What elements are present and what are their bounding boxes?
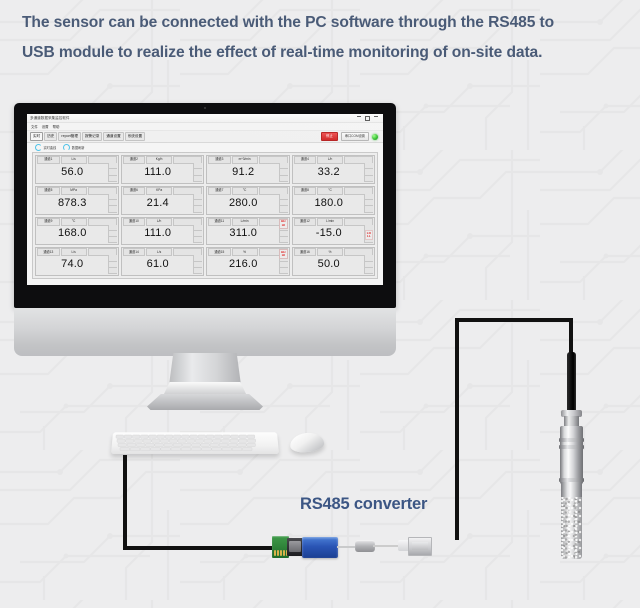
ferrite-bead bbox=[355, 540, 375, 552]
channel-body: 311.0 bbox=[208, 225, 288, 244]
refresh-icon bbox=[63, 144, 70, 151]
channel-body: 878.3 bbox=[37, 194, 117, 213]
channel-value: 180.0 bbox=[294, 198, 365, 209]
channel-value: 878.3 bbox=[37, 198, 108, 209]
alarm-badge-bottom: LL bbox=[367, 235, 371, 239]
channel-body: -15.0 bbox=[294, 225, 374, 244]
channel-side-strip bbox=[193, 194, 202, 213]
channel-value: 111.0 bbox=[123, 167, 194, 178]
channel-body: 111.0 bbox=[123, 225, 203, 244]
monitor-neck bbox=[169, 353, 241, 385]
monitor-base bbox=[147, 394, 263, 410]
tab-system-settings[interactable]: 系统设置 bbox=[125, 132, 145, 141]
channel-side-strip bbox=[193, 163, 202, 182]
channel-cell[interactable]: 通道5MPa878.3 bbox=[35, 186, 119, 215]
channel-cell[interactable]: 通道7°C280.0 bbox=[206, 186, 290, 215]
monitor-neck-lower bbox=[163, 382, 247, 396]
channel-body: 280.0 bbox=[208, 194, 288, 213]
channel-value: 216.0 bbox=[208, 259, 279, 270]
channel-body: 33.2 bbox=[294, 163, 374, 182]
channel-value: 74.0 bbox=[37, 259, 108, 270]
channel-cell[interactable]: 通道10L/h111.0 bbox=[121, 217, 205, 246]
channel-body: 61.0 bbox=[123, 255, 203, 274]
tab-bar[interactable]: 实时 历史 report管理 报警记录 通道设置 系统设置 停止 串口COM设置 bbox=[27, 131, 383, 143]
channel-cell[interactable]: 通道13L/s74.0 bbox=[35, 247, 119, 276]
option-label-data-refresh: 数据刷新 bbox=[72, 145, 85, 150]
keyboard[interactable] bbox=[112, 432, 278, 454]
channel-body: 216.0 bbox=[208, 255, 288, 274]
sensor-ring-2 bbox=[559, 445, 584, 449]
keyboard-keys bbox=[112, 432, 278, 454]
monitoring-software-window: 多通道数据采集监控软件 文件 设置 帮助 实时 历史 report管理 报警记录 bbox=[27, 114, 383, 285]
sensor-cable bbox=[567, 352, 576, 414]
channel-body: 91.2 bbox=[208, 163, 288, 182]
channel-value: 168.0 bbox=[37, 228, 108, 239]
window-title: 多通道数据采集监控软件 bbox=[30, 116, 70, 121]
channel-side-strip bbox=[108, 194, 117, 213]
window-controls[interactable] bbox=[357, 116, 380, 121]
channel-value: 50.0 bbox=[294, 259, 365, 270]
channel-side-strip bbox=[364, 194, 373, 213]
caption-line-2: USB module to realize the effect of real… bbox=[22, 38, 622, 68]
caption-line-1: The sensor can be connected with the PC … bbox=[22, 8, 622, 38]
channel-cell[interactable]: 通道8°C180.0 bbox=[292, 186, 376, 215]
alarm-badge-bottom: HI bbox=[282, 254, 285, 258]
channel-body: 50.0 bbox=[294, 255, 374, 274]
channel-cell[interactable]: 通道1L/s56.0 bbox=[35, 155, 119, 184]
cable-sensor-vertical bbox=[569, 318, 573, 356]
converter-label: RS485 converter bbox=[300, 495, 427, 514]
option-realtime-curve[interactable]: 实时曲线 bbox=[35, 144, 56, 151]
alarm-badge-bottom: HI bbox=[282, 224, 285, 228]
cable-pc-vertical bbox=[123, 455, 127, 550]
caption-text: The sensor can be connected with the PC … bbox=[22, 8, 622, 68]
cable-pc-horizontal bbox=[123, 546, 275, 550]
monitor-chin bbox=[14, 308, 396, 356]
alarm-badge: LOLL bbox=[365, 230, 373, 240]
mouse[interactable] bbox=[289, 431, 325, 453]
channel-side-strip bbox=[364, 255, 373, 274]
channel-value: 311.0 bbox=[208, 228, 279, 239]
minimize-icon[interactable] bbox=[357, 116, 361, 117]
usb-plug-shell bbox=[408, 537, 432, 556]
menu-item-file[interactable]: 文件 bbox=[31, 124, 38, 129]
channel-side-strip bbox=[279, 163, 288, 182]
channel-body: 21.4 bbox=[123, 194, 203, 213]
tab-channel-settings[interactable]: 通道设置 bbox=[103, 132, 123, 141]
channel-body: 111.0 bbox=[123, 163, 203, 182]
channel-value: 91.2 bbox=[208, 167, 279, 178]
channel-value: 61.0 bbox=[123, 259, 194, 270]
tab-history[interactable]: 历史 bbox=[44, 132, 57, 141]
channel-side-strip bbox=[108, 255, 117, 274]
toolbar-actions: 停止 串口COM设置 bbox=[321, 132, 380, 140]
channel-body: 56.0 bbox=[37, 163, 117, 182]
tab-report-manage[interactable]: report管理 bbox=[58, 132, 81, 141]
channel-cell[interactable]: 通道16%50.0 bbox=[292, 247, 376, 276]
menu-item-help[interactable]: 帮助 bbox=[53, 124, 60, 129]
sensor-sintered-filter-cap bbox=[561, 497, 582, 559]
window-title-bar: 多通道数据采集监控软件 bbox=[27, 114, 383, 123]
channel-side-strip bbox=[364, 163, 373, 182]
usb-wire bbox=[373, 545, 401, 547]
channel-value: 21.4 bbox=[123, 198, 194, 209]
sensor-midsection bbox=[561, 482, 582, 498]
tab-realtime[interactable]: 实时 bbox=[30, 132, 43, 141]
channel-cell[interactable]: 通道11L/min311.0HHHI bbox=[206, 217, 290, 246]
channel-cell[interactable]: 通道14L/s61.0 bbox=[121, 247, 205, 276]
rs485-to-usb-converter bbox=[272, 531, 364, 561]
tab-alarm-records[interactable]: 报警记录 bbox=[82, 132, 102, 141]
converter-body bbox=[302, 537, 338, 558]
usb-a-plug bbox=[398, 537, 430, 554]
stop-button[interactable]: 停止 bbox=[321, 132, 338, 140]
option-label-realtime-curve: 实时曲线 bbox=[44, 145, 57, 150]
channel-side-strip bbox=[108, 163, 117, 182]
channel-side-strip bbox=[193, 225, 202, 244]
channel-side-strip bbox=[193, 255, 202, 274]
alarm-badge: HHHI bbox=[279, 219, 287, 229]
channel-cell[interactable]: 通道3m^3/min91.2 bbox=[206, 155, 290, 184]
channel-value: 33.2 bbox=[294, 167, 365, 178]
channel-body: 74.0 bbox=[37, 255, 117, 274]
channel-cell[interactable]: 通道9°C168.0 bbox=[35, 217, 119, 246]
cable-usb-vertical bbox=[455, 318, 459, 540]
channel-side-strip bbox=[108, 225, 117, 244]
maximize-icon[interactable] bbox=[365, 116, 370, 121]
channel-value: -15.0 bbox=[294, 228, 365, 239]
option-row: 实时曲线 数据刷新 bbox=[27, 143, 383, 152]
channel-grid-panel: 通道1L/s56.0通道2Kg/h111.0通道3m^3/min91.2通道4L… bbox=[32, 152, 378, 279]
db9-connector bbox=[287, 538, 303, 556]
channel-value: 280.0 bbox=[208, 198, 279, 209]
menu-item-settings[interactable]: 设置 bbox=[42, 124, 49, 129]
spinner-icon bbox=[35, 144, 42, 151]
sensor-ring-3 bbox=[559, 478, 584, 482]
channel-cell[interactable]: 通道12L/min-15.0LOLL bbox=[292, 217, 376, 246]
menu-bar[interactable]: 文件 设置 帮助 bbox=[27, 123, 383, 131]
channel-cell[interactable]: 通道6KPa21.4 bbox=[121, 186, 205, 215]
monitor-screen: 多通道数据采集监控软件 文件 设置 帮助 实时 历史 report管理 报警记录 bbox=[27, 114, 383, 285]
channel-body: 168.0 bbox=[37, 225, 117, 244]
sensor-body bbox=[560, 426, 583, 484]
channel-side-strip bbox=[279, 194, 288, 213]
channel-cell[interactable]: 通道15%216.0HHHI bbox=[206, 247, 290, 276]
status-led-icon bbox=[372, 134, 378, 140]
converter-wire bbox=[337, 546, 357, 548]
channel-cell[interactable]: 通道4L/h33.2 bbox=[292, 155, 376, 184]
sensor-ring-1 bbox=[559, 438, 584, 442]
option-data-refresh[interactable]: 数据刷新 bbox=[63, 144, 84, 151]
desktop-monitor: 多通道数据采集监控软件 文件 设置 帮助 实时 历史 report管理 报警记录 bbox=[14, 103, 396, 308]
channel-cell[interactable]: 通道2Kg/h111.0 bbox=[121, 155, 205, 184]
temperature-humidity-sensor-probe bbox=[553, 352, 589, 564]
channel-body: 180.0 bbox=[294, 194, 374, 213]
com-port-button[interactable]: 串口COM设置 bbox=[341, 132, 369, 140]
channel-grid: 通道1L/s56.0通道2Kg/h111.0通道3m^3/min91.2通道4L… bbox=[35, 155, 375, 276]
channel-value: 56.0 bbox=[37, 167, 108, 178]
channel-value: 111.0 bbox=[123, 228, 194, 239]
cable-top-horizontal bbox=[455, 318, 573, 322]
close-icon[interactable] bbox=[374, 116, 378, 117]
alarm-badge: HHHI bbox=[279, 249, 287, 259]
